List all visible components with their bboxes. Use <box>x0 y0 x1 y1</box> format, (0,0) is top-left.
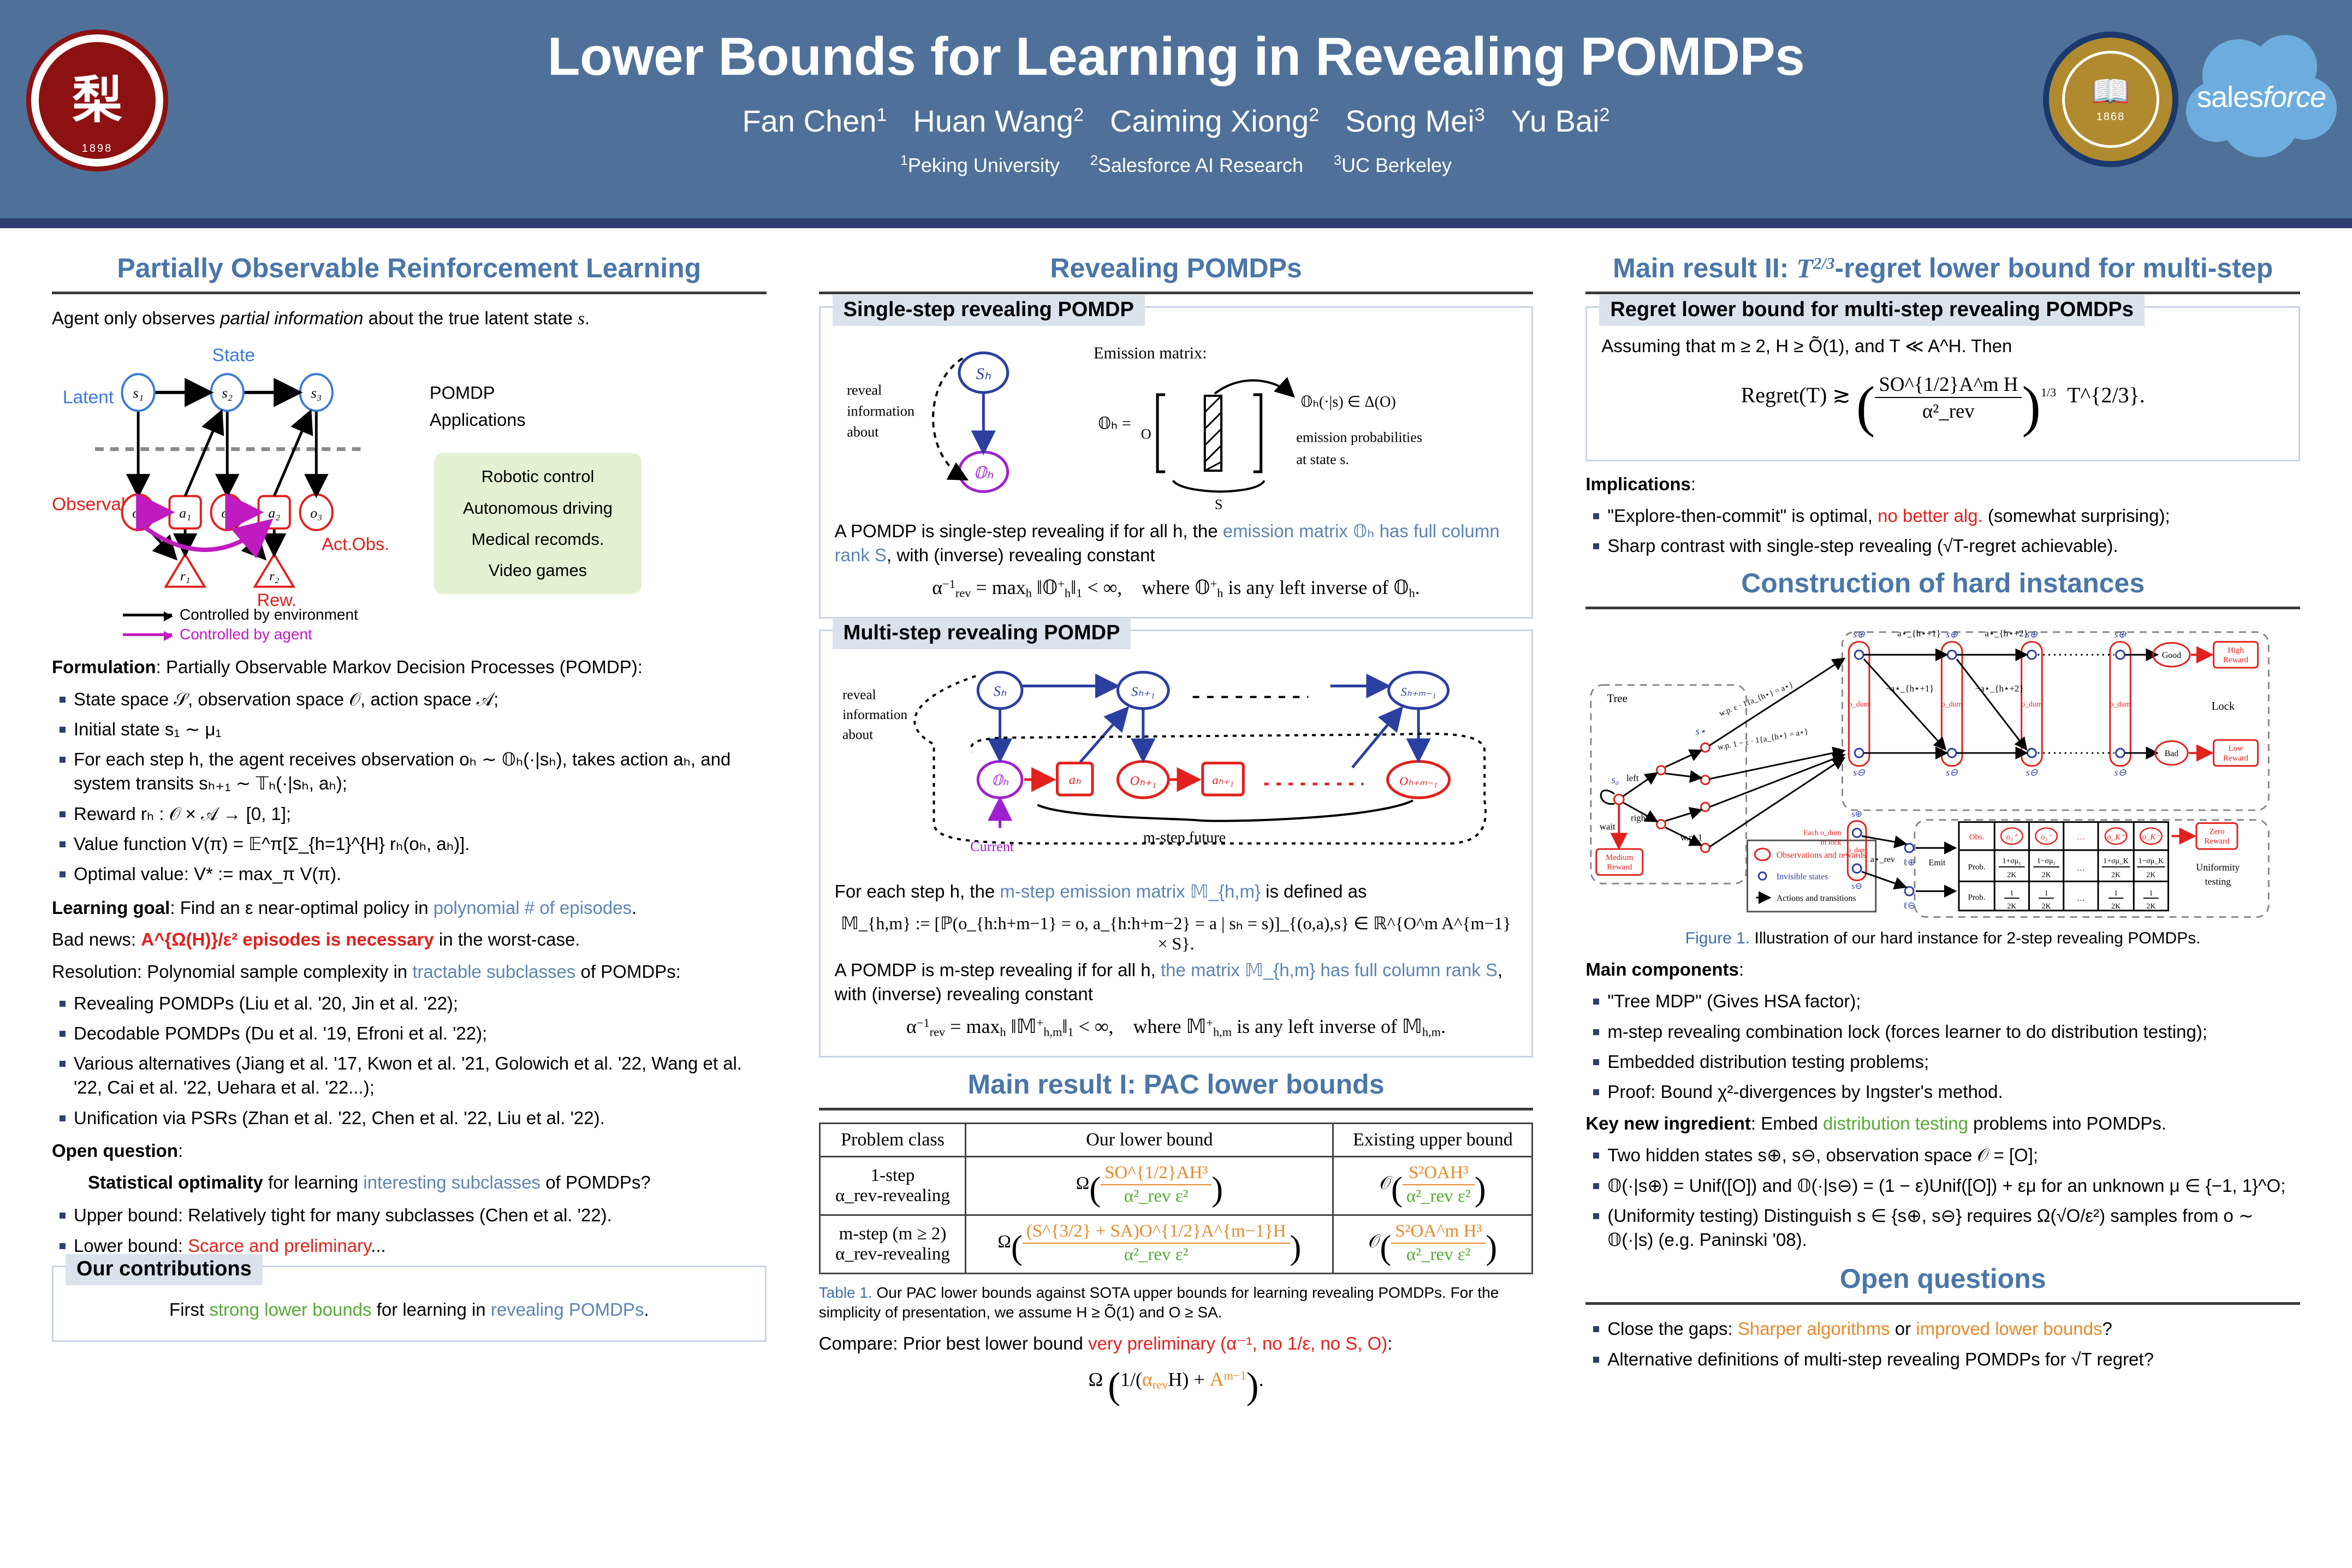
open-question-colon: : <box>178 1141 183 1161</box>
legend-environment: Controlled by environment <box>123 606 767 623</box>
matrix-annot-3: at state s. <box>1296 452 1349 467</box>
a-rev-label: a⋆_rev <box>1870 854 1895 864</box>
low-reward-2: Reward <box>2223 754 2249 763</box>
application-item-1: Autonomous driving <box>448 492 627 524</box>
svg-text:2K: 2K <box>2112 901 2121 910</box>
formulation-item-3: Reward rₕ : 𝒪 × 𝒜 → [0, 1]; <box>56 802 767 826</box>
applications-box: Robotic control Autonomous driving Medic… <box>434 453 642 593</box>
svg-text:1: 1 <box>2045 889 2048 897</box>
current-label: Current <box>970 839 1014 854</box>
legend-agent: Controlled by agent <box>123 626 767 643</box>
not-a-star-h2-label: ¬a⋆_{h⋆+2} <box>1975 683 2024 693</box>
node-s0: s₀ <box>1612 774 1619 786</box>
key-items-list: Two hidden states s⊕, s⊖, observation sp… <box>1590 1143 2300 1252</box>
affiliation-0: 1Peking University <box>900 153 1060 177</box>
author-3: Song Mei3 <box>1345 103 1485 139</box>
emission-matrix-label: Emission matrix: <box>1094 343 1207 362</box>
formulation-list: State space 𝒮, observation space 𝒪, acti… <box>56 687 767 887</box>
learning-goal-rest: : Find an ε near-optimal policy in <box>170 898 433 918</box>
svg-text:o₃: o₃ <box>310 505 322 521</box>
legend-environment-label: Controlled by environment <box>180 606 358 623</box>
reveal-label-line3: about <box>847 424 879 440</box>
resolution-label: Resolution: <box>52 961 142 982</box>
table-header-row: Problem class Our lower bound Existing u… <box>819 1123 1533 1156</box>
svg-text:…: … <box>2077 864 2085 872</box>
implication-item-1: Sharp contrast with single-step revealin… <box>1590 534 2300 558</box>
main-components-heading: Main components: <box>1585 958 2300 982</box>
open-question-bold: Statistical optimality <box>88 1172 263 1192</box>
tree-label: Tree <box>1607 693 1628 705</box>
matrix-annot-1: 𝕆ₕ(·|s) ∈ Δ(O) <box>1300 394 1395 411</box>
lock-label: Lock <box>2212 700 2235 712</box>
author-1: Huan Wang2 <box>913 103 1084 139</box>
svg-text:r₁: r₁ <box>180 569 190 584</box>
svg-text:2K: 2K <box>2147 870 2156 878</box>
key-ingredient-label: Key new ingredient <box>1585 1113 1751 1133</box>
svg-text:a₂: a₂ <box>268 505 280 521</box>
section-title-construction: Construction of hard instances <box>1585 567 2300 607</box>
main-components-label: Main components <box>1585 959 1739 979</box>
section-divider-4 <box>1585 292 2300 294</box>
affiliation-list: 1Peking University 2Salesforce AI Resear… <box>521 153 1831 177</box>
reveal-label-line1: reveal <box>847 382 882 398</box>
section-title-porl: Partially Observable Reinforcement Learn… <box>52 252 767 292</box>
node-oh: 𝕆ₕ <box>973 464 994 482</box>
learning-goal-highlight: polynomial # of episodes <box>433 898 632 918</box>
multi-step-highlight-2: the matrix 𝕄_{h,m} has full column rank … <box>1161 960 1498 980</box>
open-question-highlight-1: Sharper algorithms <box>1738 1318 1890 1339</box>
zero-reward-1: Zero <box>2210 827 2225 836</box>
zero-reward-2: Reward <box>2205 837 2230 846</box>
open-question-highlight-2: improved lower bounds <box>1916 1318 2102 1339</box>
svg-text:1: 1 <box>2115 889 2118 897</box>
high-reward-1: High <box>2228 646 2244 655</box>
svg-text:1: 1 <box>2010 889 2014 897</box>
open-question-label: Open question <box>52 1141 178 1161</box>
bad-news-line: Bad news: A^{Ω(H)}/ε² episodes is necess… <box>52 928 767 952</box>
main-component-1: m-step revealing combination lock (force… <box>1590 1020 2300 1044</box>
formulation-item-0: State space 𝒮, observation space 𝒪, acti… <box>56 687 767 711</box>
label-state: State <box>212 346 255 366</box>
left-label: left <box>1626 773 1639 783</box>
open-question-highlight: interesting subclasses <box>363 1172 541 1192</box>
single-step-box-title: Single-step revealing POMDP <box>833 295 1145 326</box>
multi-reveal-label-2: information <box>842 708 907 722</box>
open-question-item-1: Alternative definitions of multi-step re… <box>1590 1347 2300 1371</box>
intro-text: Agent only observes partial information … <box>52 306 767 331</box>
svg-text:s⊖: s⊖ <box>1854 767 1866 777</box>
each-odum-1: Each o_dum <box>1803 828 1842 836</box>
section-divider-5 <box>1585 607 2300 609</box>
svg-text:o_K⁺: o_K⁺ <box>2107 833 2126 841</box>
svg-text:o₁⁻: o₁⁻ <box>2041 833 2053 841</box>
a-star-h2-label: a⋆_{h⋆+2} <box>1985 628 2028 638</box>
node-sstar: s⋆ <box>1696 726 1706 737</box>
svg-text:r₂: r₂ <box>269 569 279 584</box>
svg-text:s₁: s₁ <box>133 385 144 401</box>
implication-item-0: "Explore-then-commit" is optimal, no bet… <box>1590 504 2300 528</box>
multi-step-formula-definition: 𝕄_{h,m} := [ℙ(o_{h:h+m−1} = o, a_{h:h+m−… <box>835 913 1518 954</box>
regret-formula: Regret(T) ≳ (SO^{1/2}A^m Hα²_rev)1/3 T^{… <box>1601 372 2284 439</box>
section-divider-6 <box>1585 1302 2300 1305</box>
reveal-label-line2: information <box>847 403 914 419</box>
svg-text:s⊕: s⊕ <box>1854 628 1866 639</box>
legend-invisible-states: Invisible states <box>1777 872 1828 881</box>
svg-text:2K: 2K <box>2042 901 2051 910</box>
m-step-future-label: m-step future <box>1143 829 1225 846</box>
svg-text:Sₕ₊₁: Sₕ₊₁ <box>1131 684 1155 699</box>
wait-label: wait <box>1600 821 1615 831</box>
table-row: m-step (m ≥ 2) α_rev-revealing Ω((S^{3/2… <box>819 1215 1533 1273</box>
learning-goal-label: Learning goal <box>52 898 170 918</box>
column-revealing-pomdps: Revealing POMDPs Single-step revealing P… <box>819 252 1534 1568</box>
key-ingredient-highlight: distribution testing <box>1823 1113 1968 1133</box>
table-caption-text: Our PAC lower bounds against SOTA upper … <box>819 1284 1499 1321</box>
svg-text:s₂: s₂ <box>222 385 233 401</box>
svg-text:1−σμ₁: 1−σμ₁ <box>2037 856 2056 864</box>
implication-highlight: no better alg. <box>1878 506 1983 526</box>
svg-text:2K: 2K <box>2007 870 2017 878</box>
svg-text:Sₕ: Sₕ <box>993 683 1006 699</box>
multi-step-revealing-box: Multi-step revealing POMDP <box>819 629 1534 1058</box>
resolution-mid: Polynomial sample complexity in <box>142 961 412 982</box>
table-header-0: Problem class <box>819 1123 966 1156</box>
section-divider-2 <box>819 292 1534 294</box>
high-reward-2: Reward <box>2223 656 2249 664</box>
svg-text:s⊖: s⊖ <box>2026 767 2038 777</box>
figure-caption: Figure 1. Illustration of our hard insta… <box>1585 928 2300 949</box>
svg-text:…: … <box>2077 833 2085 841</box>
section-title-revealing-pomdps: Revealing POMDPs <box>819 252 1534 292</box>
matrix-annot-2: emission probabilities <box>1296 430 1422 446</box>
open-question-heading: Open question: <box>52 1139 767 1163</box>
key-item-1: 𝕆(·|s⊕) = Unif([O]) and 𝕆(·|s⊖) = (1 − ε… <box>1590 1174 2300 1198</box>
multi-step-highlight-1: m-step emission matrix 𝕄_{h,m} <box>1000 881 1261 901</box>
svg-text:Oₕ₊₁: Oₕ₊₁ <box>1130 774 1156 788</box>
section-divider-3 <box>819 1108 1534 1110</box>
pomdp-diagram-svg: State Latent Observable s₁ s₂ s₃ o₁ <box>52 338 767 608</box>
affiliation-1: 2Salesforce AI Research <box>1090 153 1303 177</box>
multi-step-box-title: Multi-step revealing POMDP <box>833 618 1131 649</box>
subclass-item-1: Decodable POMDPs (Du et al. '19, Efroni … <box>56 1021 767 1046</box>
ell-minus: ℓ⊖ <box>1903 900 1915 910</box>
resolution-end: of POMDPs: <box>575 961 681 982</box>
medium-reward-label-2: Reward <box>1607 863 1633 871</box>
compare-highlight: very preliminary (α⁻¹, no 1/ε, no S, O) <box>1088 1333 1387 1353</box>
open-question-mid: for learning <box>263 1172 363 1192</box>
svg-text:…: … <box>2077 894 2085 903</box>
bound-upper: Upper bound: Relatively tight for many s… <box>56 1203 767 1227</box>
table-cell-class-0: 1-step α_rev-revealing <box>819 1156 966 1215</box>
pomdp-applications-title2: Applications <box>430 409 526 430</box>
main-result-2-math: T2/3 <box>1796 253 1834 283</box>
legend-actions-transitions: Actions and transitions <box>1777 894 1856 903</box>
intro-emphasis: partial information <box>220 308 363 328</box>
table-cell-upper-1: 𝒪(S²OA^m H³α²_rev ε²) <box>1333 1215 1533 1273</box>
hard-instance-svg: Tree Lock s₀ wait right left Medium Rewa… <box>1585 621 2300 924</box>
implications-heading: Implications: <box>1585 472 2300 496</box>
single-step-sketch-svg: reveal information about Sₕ 𝕆ₕ Emission … <box>835 334 1518 516</box>
compare-line: Compare: Prior best lower bound very pre… <box>819 1332 1534 1356</box>
ucb-logo-year: 1868 <box>2096 111 2125 123</box>
svg-text:a₁: a₁ <box>179 505 191 521</box>
affiliation-2: 3UC Berkeley <box>1334 153 1452 177</box>
application-item-0: Robotic control <box>448 461 627 492</box>
formulation-rest: : Partially Observable Markov Decision P… <box>156 657 643 677</box>
emit-label: Emit <box>1929 858 1946 867</box>
arrow-magenta-icon <box>123 633 172 636</box>
low-reward-1: Low <box>2229 744 2243 753</box>
main-component-0: "Tree MDP" (Gives HSA factor); <box>1590 989 2300 1013</box>
label-act: Act. <box>322 534 352 554</box>
page-title: Lower Bounds for Learning in Revealing P… <box>521 28 1831 85</box>
multi-step-definition-2: A POMDP is m-step revealing if for all h… <box>835 958 1518 1006</box>
author-2: Caiming Xiong2 <box>1110 103 1319 139</box>
formulation-label: Formulation <box>52 657 156 677</box>
label-latent: Latent <box>63 388 114 408</box>
uniformity-label-1: Uniformity <box>2196 862 2240 872</box>
open-questions-list: Close the gaps: Sharper algorithms or im… <box>1590 1317 2300 1371</box>
table-cell-upper-0: 𝒪(S²OAH³α²_rev ε²) <box>1333 1156 1533 1215</box>
single-step-formula: α−1rev = maxh ‖𝕆+h‖1 < ∞, where 𝕆+h is a… <box>835 576 1518 601</box>
label-obs: Obs. <box>352 534 390 554</box>
open-question-body: Statistical optimality for learning inte… <box>88 1171 767 1195</box>
ell-plus: ℓ⊕ <box>1903 857 1915 867</box>
open-question-end: of POMDPs? <box>541 1172 651 1192</box>
arrow-black-icon <box>123 614 172 616</box>
svg-text:s⊖: s⊖ <box>1852 882 1862 891</box>
poster-header: 梨 1898 Lower Bounds for Learning in Reve… <box>0 0 2352 228</box>
salesforce-wordmark: salesforce <box>2186 28 2337 166</box>
svg-text:2K: 2K <box>2042 870 2051 878</box>
section-divider <box>52 292 767 294</box>
column-main-result-2: Main result II: T2/3-regret lower bound … <box>1585 252 2300 1568</box>
table-header-2: Existing upper bound <box>1333 1123 1533 1156</box>
subclasses-list: Revealing POMDPs (Liu et al. '20, Jin et… <box>56 991 767 1130</box>
wp-eps-label: w.p. ε · 1{a_{h⋆} = a⋆} <box>1718 680 1795 718</box>
not-a-star-h1-label: ¬a⋆_{h⋆+1} <box>1886 683 1934 693</box>
salesforce-logo-icon: salesforce <box>2186 28 2337 166</box>
application-item-2: Medical recomds. <box>448 524 627 555</box>
svg-text:1+σμ₁: 1+σμ₁ <box>2003 856 2021 864</box>
bounds-list: Upper bound: Relatively tight for many s… <box>56 1203 767 1257</box>
label-rew: Rew. <box>257 590 297 608</box>
good-label: Good <box>2162 651 2181 660</box>
subclass-item-3: Unification via PSRs (Zhan et al. '22, C… <box>56 1106 767 1130</box>
implications-list: "Explore-then-commit" is optimal, no bet… <box>1590 504 2300 558</box>
multi-reveal-label-1: reveal <box>842 687 876 702</box>
table-caption-label: Table 1. <box>819 1284 872 1301</box>
svg-text:o_dum: o_dum <box>1849 700 1870 708</box>
main-component-3: Proof: Bound χ²-divergences by Ingster's… <box>1590 1080 2300 1104</box>
pomdp-graphical-model-figure: State Latent Observable s₁ s₂ s₃ o₁ <box>52 338 767 608</box>
formulation-item-4: Value function V(π) = 𝔼^π[Σ_{h=1}^{H} rₕ… <box>56 832 767 856</box>
key-item-2: (Uniformity testing) Distinguish s ∈ {s⊕… <box>1590 1204 2300 1252</box>
matrix-dim-rows: O <box>1141 426 1151 442</box>
wp1-label: w.p. 1 <box>1680 832 1702 842</box>
our-contributions-box: Our contributions First strong lower bou… <box>52 1266 767 1342</box>
formulation-item-1: Initial state s₁ ∼ μ₁ <box>56 717 767 741</box>
pac-lower-bounds-table: Problem class Our lower bound Existing u… <box>819 1122 1534 1275</box>
compare-formula: Ω (1/(αrevH) + Am−1). <box>819 1364 1534 1407</box>
key-item-0: Two hidden states s⊕, s⊖, observation sp… <box>1590 1143 2300 1167</box>
open-question-item-0: Close the gaps: Sharper algorithms or im… <box>1590 1317 2300 1341</box>
matrix-lhs: 𝕆ₕ = <box>1098 414 1131 432</box>
svg-text:𝕆ₕ: 𝕆ₕ <box>991 773 1009 788</box>
bad-news-rest: in the worst-case. <box>434 929 580 949</box>
regret-assumption: Assuming that m ≥ 2, H ≥ Õ(1), and T ≪ A… <box>1601 334 2284 358</box>
implications-label: Implications <box>1585 474 1691 494</box>
our-contributions-title: Our contributions <box>66 1254 263 1285</box>
uniformity-label-2: testing <box>2205 876 2231 887</box>
hard-instance-figure: Tree Lock s₀ wait right left Medium Rewa… <box>1585 621 2300 924</box>
section-title-open-questions: Open questions <box>1585 1263 2300 1302</box>
regret-lower-bound-box: Regret lower bound for multi-step reveal… <box>1585 306 2300 461</box>
svg-text:o₂: o₂ <box>221 505 233 521</box>
main-component-2: Embedded distribution testing problems; <box>1590 1050 2300 1074</box>
svg-text:s⊕: s⊕ <box>2115 628 2127 639</box>
bad-news-label: Bad news: <box>52 929 136 949</box>
svg-text:2K: 2K <box>2007 901 2017 910</box>
each-odum-2: in lock <box>1821 838 1842 846</box>
svg-text:o_dum: o_dum <box>2022 700 2043 708</box>
formulation-item-2: For each step h, the agent receives obse… <box>56 747 767 795</box>
multi-step-sketch-svg: reveal information about Sₕ Sₕ₊₁ Sₕ₊ₘ₋₁ … <box>835 657 1518 877</box>
svg-text:o₁⁺: o₁⁺ <box>2006 833 2018 841</box>
regret-box-title: Regret lower bound for multi-step reveal… <box>1599 295 2145 326</box>
svg-text:aₕ: aₕ <box>1068 773 1080 787</box>
table-cell-lower-0: Ω(SO^{1/2}AH³α²_rev ε²) <box>966 1156 1333 1215</box>
svg-text:o₁: o₁ <box>132 505 144 521</box>
obs-row-label: Obs. <box>1969 833 1985 841</box>
our-contributions-text: First strong lower bounds for learning i… <box>68 1298 751 1322</box>
single-step-definition: A POMDP is single-step revealing if for … <box>835 519 1518 567</box>
svg-text:s⊕: s⊕ <box>1852 809 1862 818</box>
subclass-item-0: Revealing POMDPs (Liu et al. '20, Jin et… <box>56 991 767 1015</box>
pomdp-applications-title: POMDP <box>430 383 495 403</box>
svg-text:o_K⁻: o_K⁻ <box>2142 833 2161 841</box>
column-partially-observable-rl: Partially Observable Reinforcement Learn… <box>52 252 767 1568</box>
application-item-3: Video games <box>448 555 627 586</box>
resolution-line: Resolution: Polynomial sample complexity… <box>52 960 767 984</box>
svg-text:1+σμ_K: 1+σμ_K <box>2104 856 2129 864</box>
svg-text:o_dum: o_dum <box>1941 700 1963 708</box>
medium-reward-label-1: Medium <box>1606 853 1634 862</box>
contrib-green: strong lower bounds <box>209 1299 371 1320</box>
uc-berkeley-seal-icon: 📖 1868 <box>2043 32 2178 167</box>
formulation-line: Formulation: Partially Observable Markov… <box>52 655 767 679</box>
open-book-icon: 📖 <box>2091 76 2130 108</box>
contrib-blue: revealing POMDPs <box>491 1299 644 1320</box>
figure-caption-text: Illustration of our hard instance for 2-… <box>1750 929 2200 947</box>
svg-text:o_dum: o_dum <box>1848 846 1867 854</box>
table-header-1: Our lower bound <box>966 1123 1333 1156</box>
section-title-main-result-2: Main result II: T2/3-regret lower bound … <box>1585 252 2300 292</box>
main-components-list: "Tree MDP" (Gives HSA factor); m-step re… <box>1590 989 2300 1104</box>
bad-label: Bad <box>2165 749 2179 758</box>
svg-text:1: 1 <box>2149 889 2153 897</box>
multi-step-definition-pre: For each step h, the m-step emission mat… <box>835 880 1518 904</box>
svg-text:s⊖: s⊖ <box>1946 767 1958 777</box>
svg-text:s⊖: s⊖ <box>2115 767 2127 777</box>
subclass-item-2: Various alternatives (Jiang et al. '17, … <box>56 1052 767 1100</box>
a-star-h1-label: a⋆_{h⋆+1} <box>1898 628 1941 638</box>
section-title-main-result-1: Main result I: PAC lower bounds <box>819 1068 1534 1108</box>
matrix-dim-cols: S <box>1215 497 1223 513</box>
legend-agent-label: Controlled by agent <box>180 626 312 643</box>
table-cell-class-1: m-step (m ≥ 2) α_rev-revealing <box>819 1215 966 1273</box>
svg-text:Oₕ₊ₘ₋₁: Oₕ₊ₘ₋₁ <box>1399 774 1438 788</box>
author-list: Fan Chen1 Huan Wang2 Caiming Xiong2 Song… <box>521 103 1831 139</box>
key-ingredient-heading: Key new ingredient: Embed distribution t… <box>1585 1112 2300 1136</box>
multi-reveal-label-3: about <box>842 727 873 742</box>
learning-goal-line: Learning goal: Find an ε near-optimal po… <box>52 896 767 920</box>
prob-row-1-label: Prob. <box>1968 863 1986 871</box>
prob-row-2-label: Prob. <box>1968 893 1986 902</box>
svg-text:s₃: s₃ <box>311 385 322 401</box>
formulation-item-5: Optimal value: V* := max_π V(π). <box>56 862 767 886</box>
svg-text:s⊕: s⊕ <box>1946 628 1958 639</box>
svg-text:o_dum: o_dum <box>2110 700 2131 708</box>
svg-text:2K: 2K <box>2147 901 2156 910</box>
table-row: 1-step α_rev-revealing Ω(SO^{1/2}AH³α²_r… <box>819 1156 1533 1215</box>
single-step-revealing-box: Single-step revealing POMDP reveal infor… <box>819 306 1534 619</box>
figure-caption-label: Figure 1. <box>1685 929 1750 947</box>
author-0: Fan Chen1 <box>743 103 887 139</box>
bad-news-highlight: A^{Ω(H)}/ε² episodes is necessary <box>141 929 433 949</box>
multi-step-formula-2: α−1rev = maxh ‖𝕄+h,m‖1 < ∞, where 𝕄+h,m … <box>835 1015 1518 1040</box>
svg-text:2K: 2K <box>2112 870 2121 878</box>
table-caption: Table 1. Our PAC lower bounds against SO… <box>819 1283 1534 1323</box>
svg-text:1−σμ_K: 1−σμ_K <box>2139 856 2164 864</box>
bound-lower-highlight: Scarce and preliminary <box>188 1236 371 1256</box>
node-sh: Sₕ <box>976 365 991 383</box>
author-4: Yu Bai2 <box>1511 103 1610 139</box>
svg-text:Sₕ₊ₘ₋₁: Sₕ₊ₘ₋₁ <box>1400 685 1436 698</box>
svg-text:aₕ₊₁: aₕ₊₁ <box>1212 773 1233 787</box>
resolution-highlight: tractable subclasses <box>412 961 575 982</box>
table-cell-lower-1: Ω((S^{3/2} + SA)O^{1/2}A^{m−1}Hα²_rev ε²… <box>966 1215 1333 1273</box>
